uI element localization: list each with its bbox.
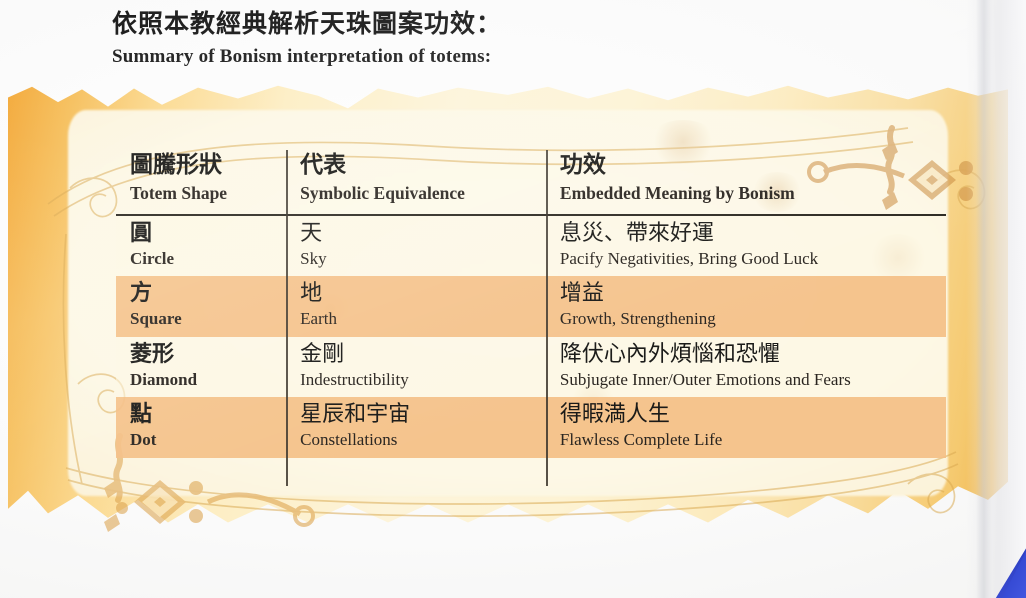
page-headings: 依照本教經典解析天珠圖案功效： Summary of Bonism interp… (112, 8, 892, 68)
column-header-totem-shape: 圖騰形狀 Totem Shape (116, 150, 286, 215)
cell-totem-shape: 菱形 Diamond (116, 337, 286, 397)
cell-totem-shape: 圓 Circle (116, 215, 286, 276)
symbolic-equivalence-en: Earth (300, 309, 540, 329)
table-row: 菱形 Diamond 金剛 Indestructibility 降伏心內外煩惱和… (116, 337, 946, 397)
cell-symbolic-equivalence: 地 Earth (286, 276, 546, 336)
column-header-symbolic-equivalence-en: Symbolic Equivalence (300, 183, 540, 204)
table-row: 方 Square 地 Earth 增益 Growth, Strengthenin… (116, 276, 946, 336)
symbolic-equivalence-cn: 星辰和宇宙 (300, 402, 540, 428)
cell-embedded-meaning: 息災、帶來好運 Pacify Negativities, Bring Good … (546, 215, 946, 276)
page-title-chinese: 依照本教經典解析天珠圖案功效： (112, 8, 892, 39)
parchment-banner: 圖騰形狀 Totem Shape 代表 Symbolic Equivalence… (8, 84, 1008, 536)
totem-shape-cn: 點 (130, 402, 280, 428)
symbolic-equivalence-cn: 金剛 (300, 342, 540, 368)
totem-table-container: 圖騰形狀 Totem Shape 代表 Symbolic Equivalence… (116, 150, 946, 486)
page-title-english: Summary of Bonism interpretation of tote… (112, 46, 892, 68)
totem-shape-cn: 菱形 (130, 342, 280, 368)
embedded-meaning-en: Growth, Strengthening (560, 309, 940, 329)
totem-shape-cn: 圓 (130, 221, 280, 247)
column-header-totem-shape-en: Totem Shape (130, 183, 280, 204)
cell-symbolic-equivalence: 天 Sky (286, 215, 546, 276)
symbolic-equivalence-en: Sky (300, 249, 540, 269)
cell-embedded-meaning: 降伏心內外煩惱和恐懼 Subjugate Inner/Outer Emotion… (546, 337, 946, 397)
totem-shape-cn: 方 (130, 281, 280, 307)
embedded-meaning-cn: 息災、帶來好運 (560, 221, 940, 247)
symbolic-equivalence-en: Constellations (300, 430, 540, 450)
embedded-meaning-en: Flawless Complete Life (560, 430, 940, 450)
cell-totem-shape: 點 Dot (116, 397, 286, 457)
column-header-embedded-meaning-cn: 功效 (560, 152, 940, 179)
embedded-meaning-en: Pacify Negativities, Bring Good Luck (560, 249, 940, 269)
totem-shape-en: Diamond (130, 370, 280, 390)
table-column-divider-2 (546, 150, 548, 486)
symbolic-equivalence-en: Indestructibility (300, 370, 540, 390)
totem-shape-en: Circle (130, 249, 280, 269)
table-row: 點 Dot 星辰和宇宙 Constellations 得暇満人生 Flawles… (116, 397, 946, 457)
column-header-totem-shape-cn: 圖騰形狀 (130, 152, 280, 179)
embedded-meaning-cn: 降伏心內外煩惱和恐懼 (560, 342, 940, 368)
totem-table: 圖騰形狀 Totem Shape 代表 Symbolic Equivalence… (116, 150, 946, 458)
embedded-meaning-cn: 增益 (560, 281, 940, 307)
table-body: 圓 Circle 天 Sky 息災、帶來好運 Pacify Negativiti… (116, 215, 946, 457)
table-header: 圖騰形狀 Totem Shape 代表 Symbolic Equivalence… (116, 150, 946, 215)
embedded-meaning-cn: 得暇満人生 (560, 402, 940, 428)
column-header-embedded-meaning-en: Embedded Meaning by Bonism (560, 183, 940, 204)
symbolic-equivalence-cn: 天 (300, 221, 540, 247)
table-column-divider-1 (286, 150, 288, 486)
cell-totem-shape: 方 Square (116, 276, 286, 336)
cell-embedded-meaning: 得暇満人生 Flawless Complete Life (546, 397, 946, 457)
symbolic-equivalence-cn: 地 (300, 281, 540, 307)
cell-embedded-meaning: 增益 Growth, Strengthening (546, 276, 946, 336)
screenshot-page: 依照本教經典解析天珠圖案功效： Summary of Bonism interp… (0, 0, 1026, 598)
cell-symbolic-equivalence: 星辰和宇宙 Constellations (286, 397, 546, 457)
embedded-meaning-en: Subjugate Inner/Outer Emotions and Fears (560, 370, 940, 390)
cell-symbolic-equivalence: 金剛 Indestructibility (286, 337, 546, 397)
totem-shape-en: Square (130, 309, 280, 329)
table-row: 圓 Circle 天 Sky 息災、帶來好運 Pacify Negativiti… (116, 215, 946, 276)
column-header-symbolic-equivalence: 代表 Symbolic Equivalence (286, 150, 546, 215)
column-header-symbolic-equivalence-cn: 代表 (300, 152, 540, 179)
table-header-row: 圖騰形狀 Totem Shape 代表 Symbolic Equivalence… (116, 150, 946, 215)
totem-shape-en: Dot (130, 430, 280, 450)
column-header-embedded-meaning: 功效 Embedded Meaning by Bonism (546, 150, 946, 215)
